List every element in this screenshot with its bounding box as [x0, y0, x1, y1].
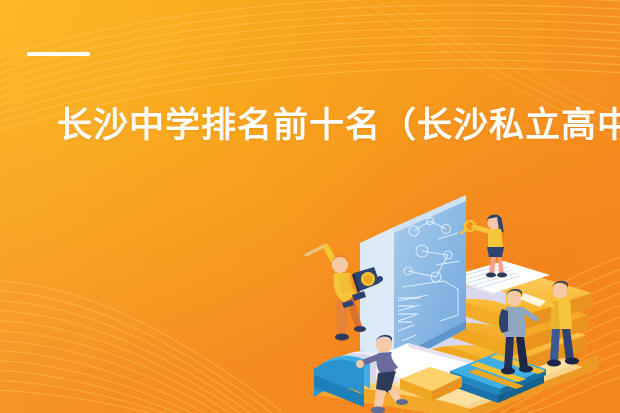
article-cover-banner: 长沙中学排名前十名（长沙私立高中 — [0, 0, 620, 413]
person-woman-on-books — [461, 215, 507, 278]
tablet-device — [360, 195, 466, 367]
page-title: 长沙中学排名前十名（长沙私立高中 — [57, 104, 620, 148]
person-yellow-shirt — [306, 245, 380, 341]
base-platform — [316, 321, 598, 413]
student-with-paper — [520, 281, 579, 367]
isometric-education-illustration — [298, 169, 620, 413]
decorative-flow-lines — [0, 0, 620, 413]
open-book-center — [314, 343, 474, 407]
decorative-rule — [27, 52, 90, 56]
background-warm-glow — [248, 41, 620, 413]
gold-step-block — [400, 367, 462, 401]
person-kneeling-reading — [356, 335, 408, 413]
background-light-sweep — [0, 0, 554, 413]
stacked-books-right — [420, 261, 592, 379]
blue-book-stack — [448, 353, 546, 403]
student-with-backpack — [499, 289, 536, 375]
